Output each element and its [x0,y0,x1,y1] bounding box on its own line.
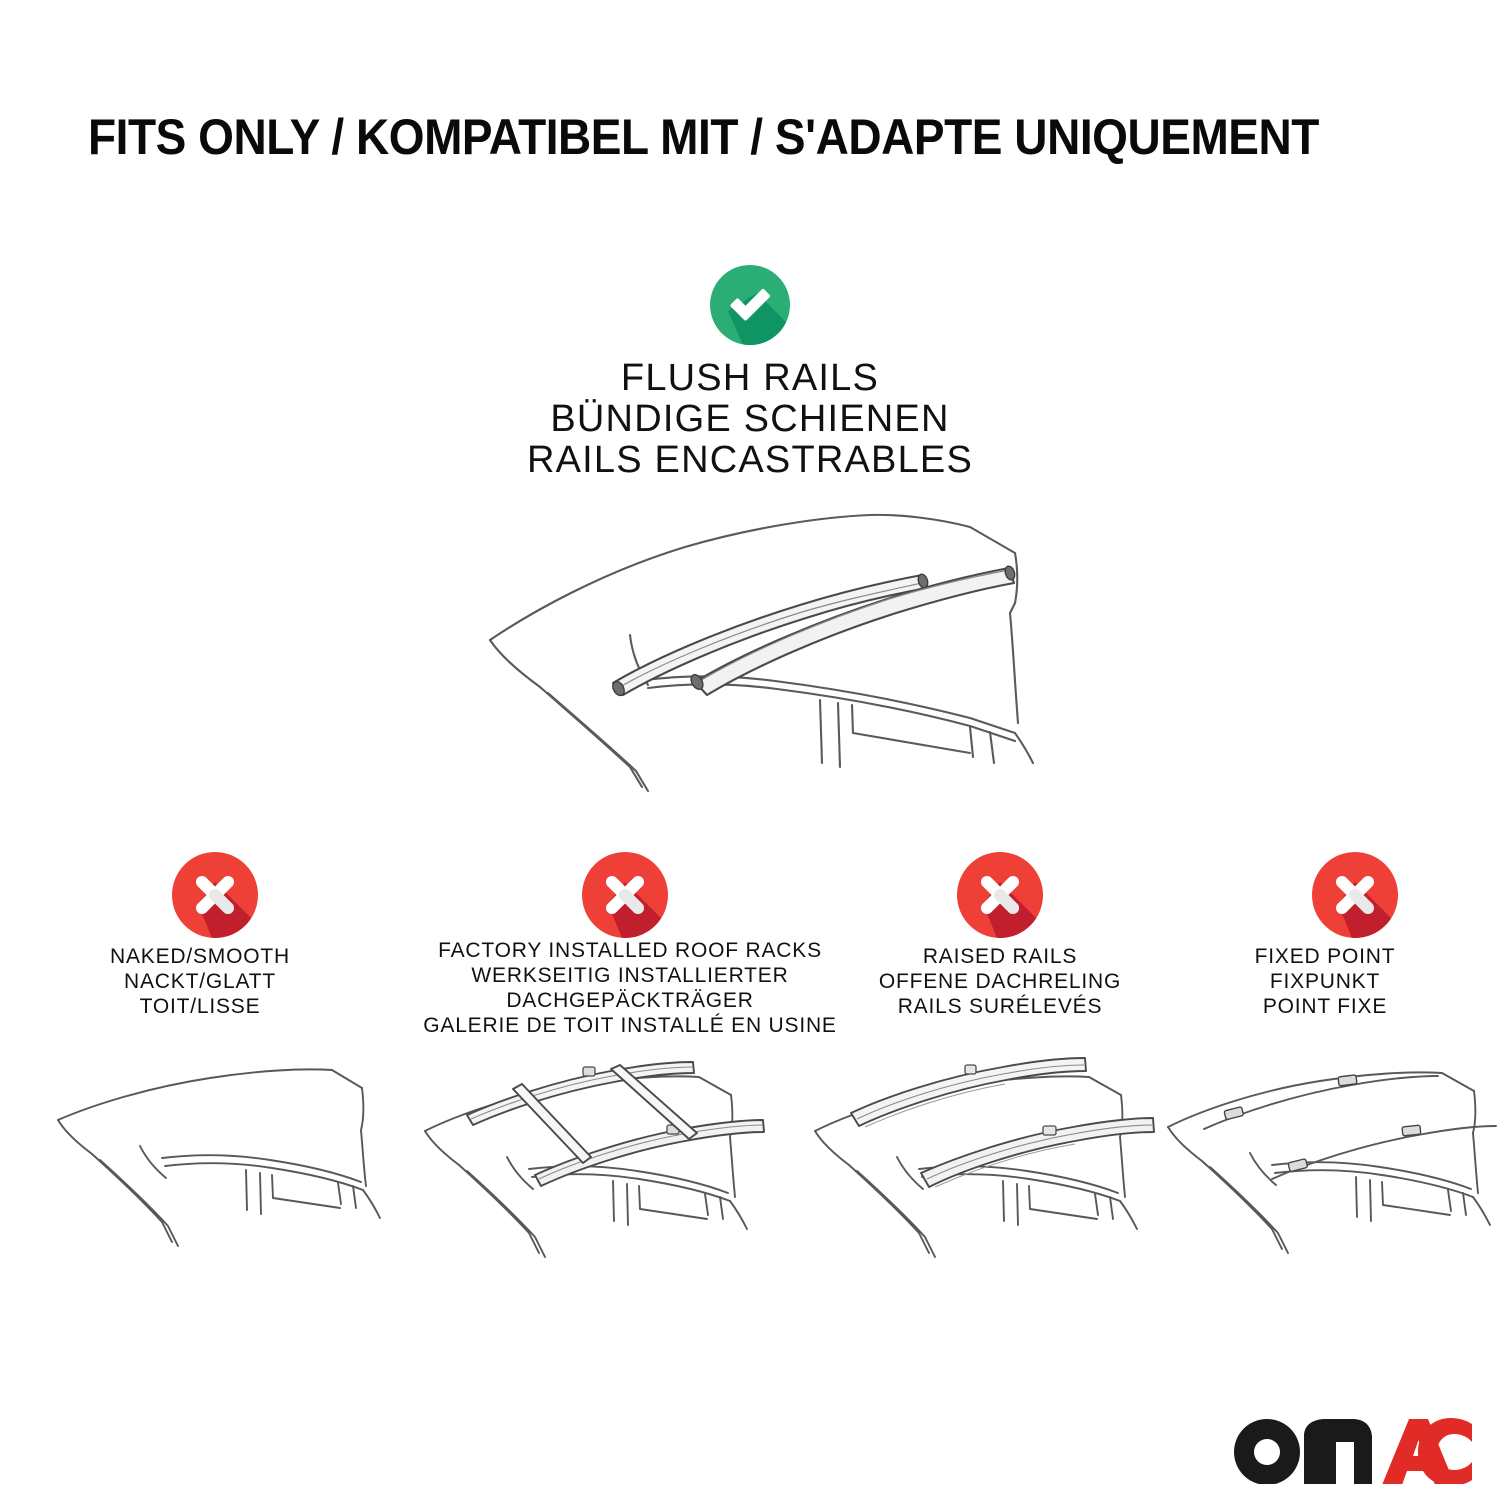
compatible-line-1: FLUSH RAILS [250,358,1250,399]
x-circle-icon [1312,852,1398,938]
label-line-1: FACTORY INSTALLED ROOF RACKS [395,938,865,963]
x-circle-icon [582,852,668,938]
label-line-2: WERKSEITIG INSTALLIERTER [395,963,865,988]
label-line-2: FIXPUNKT [1150,969,1500,994]
logo-letter-o [1234,1419,1300,1484]
car-roof-factory-installed-roof-racks-illustration [415,1053,785,1283]
car-roof-naked-smooth-illustration [50,1058,390,1278]
check-circle-icon [710,265,790,345]
label-line-2: NACKT/GLATT [0,969,400,994]
label-line-1: NAKED/SMOOTH [0,944,400,969]
incompatible-label-naked-smooth: NAKED/SMOOTH NACKT/GLATT TOIT/LISSE [0,944,400,1019]
x-circle-icon [957,852,1043,938]
label-line-3: POINT FIXE [1150,994,1500,1019]
compatible-labels: FLUSH RAILS BÜNDIGE SCHIENEN RAILS ENCAS… [250,358,1250,481]
x-circle-icon [172,852,258,938]
label-line-1: FIXED POINT [1150,944,1500,969]
car-roof-fixed-point-illustration [1160,1053,1500,1283]
fitment-infographic: FITS ONLY / KOMPATIBEL MIT / S'ADAPTE UN… [0,0,1500,1500]
car-roof-with-flush-rails-illustration [470,495,1040,795]
incompatible-label-fixed-point: FIXED POINT FIXPUNKT POINT FIXE [1150,944,1500,1019]
logo-letter-m [1304,1419,1372,1484]
page-title: FITS ONLY / KOMPATIBEL MIT / S'ADAPTE UN… [88,108,1321,166]
incompatible-label-factory-racks: FACTORY INSTALLED ROOF RACKS WERKSEITIG … [395,938,865,1038]
label-line-1: RAISED RAILS [815,944,1185,969]
compatible-line-3: RAILS ENCASTRABLES [250,440,1250,481]
label-line-3: TOIT/LISSE [0,994,400,1019]
omac-logo [1232,1412,1472,1484]
label-line-2: OFFENE DACHRELING [815,969,1185,994]
label-line-3: DACHGEPÄCKTRÄGER [395,988,865,1013]
label-line-4: GALERIE DE TOIT INSTALLÉ EN USINE [395,1013,865,1038]
incompatible-label-raised-rails: RAISED RAILS OFFENE DACHRELING RAILS SUR… [815,944,1185,1019]
compatible-line-2: BÜNDIGE SCHIENEN [250,399,1250,440]
label-line-3: RAILS SURÉLEVÉS [815,994,1185,1019]
car-roof-raised-rails-illustration [805,1053,1175,1283]
